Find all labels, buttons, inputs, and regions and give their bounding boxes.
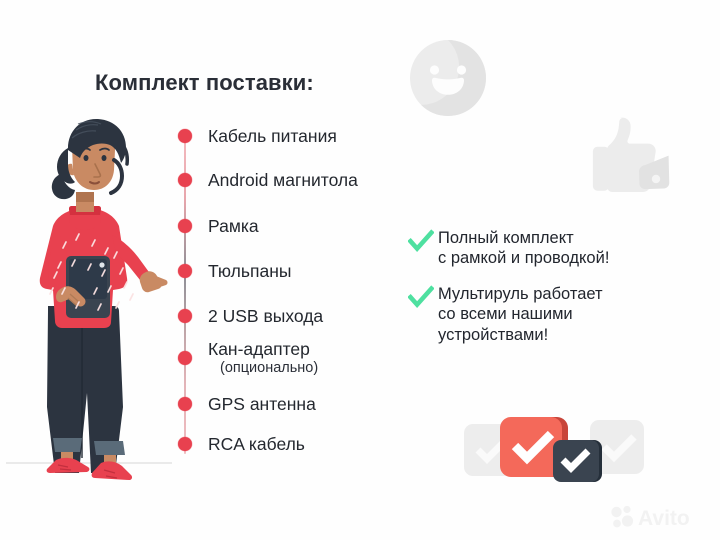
benefit-item: Мультируль работает со всеми нашими устр… (408, 284, 708, 344)
list-item-label: GPS антенна (208, 395, 316, 414)
page-title: Комплект поставки: (95, 70, 314, 96)
benefit-text: Мультируль работает со всеми нашими устр… (438, 284, 603, 344)
bullet-dot (178, 129, 192, 143)
list-item-label: Кабель питания (208, 127, 337, 146)
bullet-dot (178, 397, 192, 411)
list-item-label: Тюльпаны (208, 262, 291, 281)
list-item-label: RCA кабель (208, 435, 305, 454)
woman-illustration (6, 108, 172, 500)
bullet-dot (178, 309, 192, 323)
bullet-dot (178, 351, 192, 365)
benefit-item: Полный комплект с рамкой и проводкой! (408, 228, 708, 268)
list-item-label: Кан-адаптер (опционально) (208, 340, 318, 377)
supply-list: Кабель питания Android магнитола Рамка Т… (178, 132, 408, 462)
benefit-text: Полный комплект с рамкой и проводкой! (438, 228, 609, 268)
bullet-dot (178, 219, 192, 233)
benefits-list: Полный комплект с рамкой и проводкой! Му… (408, 228, 708, 361)
thumbs-up-icon (576, 110, 672, 210)
list-item-label: Android магнитола (208, 171, 358, 190)
list-item-label: Рамка (208, 217, 259, 236)
bullet-dot (178, 437, 192, 451)
green-check-icon (408, 229, 434, 255)
list-item-label-sub: (опционально) (208, 361, 318, 377)
green-check-icon (408, 285, 434, 311)
avito-watermark: Avito (608, 502, 712, 532)
list-item-label: 2 USB выхода (208, 307, 323, 326)
bullet-dot (178, 173, 192, 187)
promo-canvas: Комплект поставки: (0, 0, 720, 540)
bullet-dot (178, 264, 192, 278)
avito-wordmark: Avito (638, 507, 690, 530)
checkbox-group-icon (462, 412, 644, 490)
smiley-face-icon (406, 36, 490, 120)
list-item-label-main: Кан-адаптер (208, 339, 310, 359)
